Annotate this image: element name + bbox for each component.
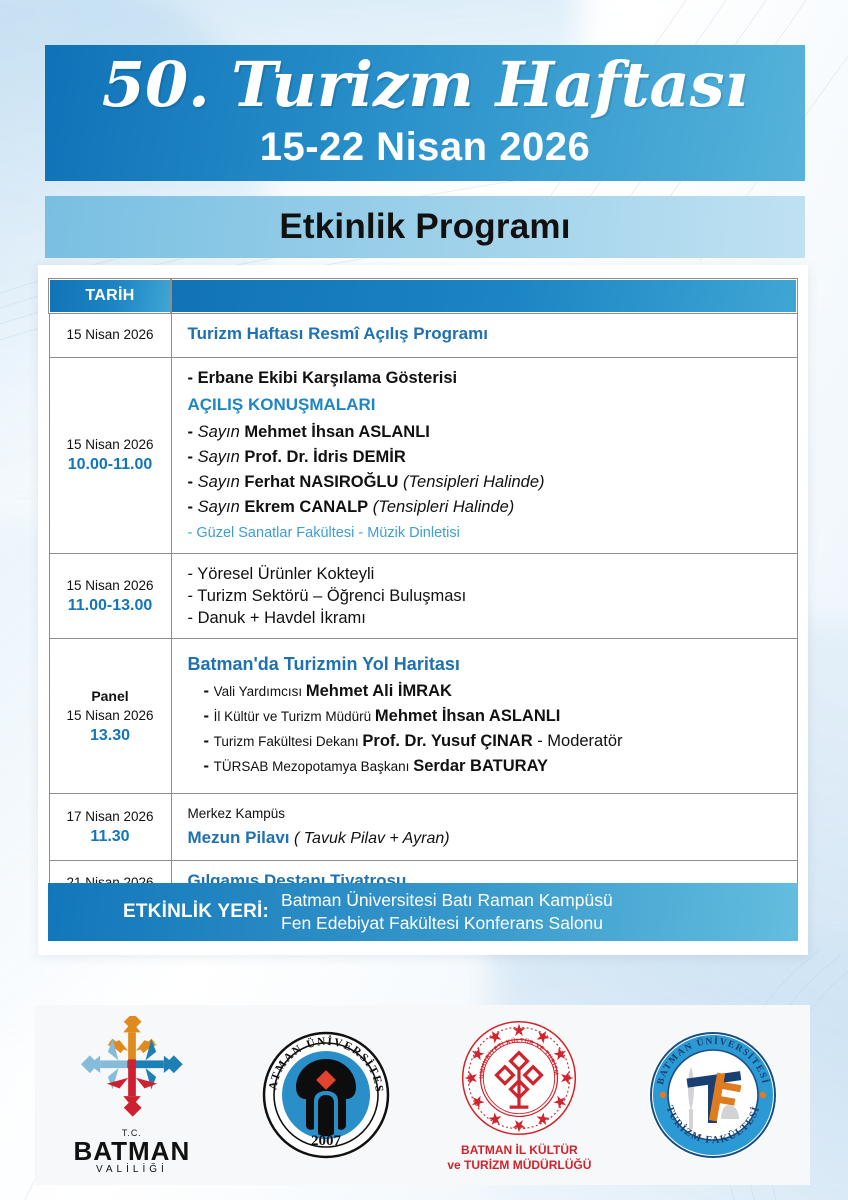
venue-bar: ETKİNLİK YERİ: Batman Üniversitesi Batı …: [48, 883, 798, 941]
table-header-content: [171, 279, 797, 313]
poster-title: 50. Turizm Haftası: [102, 47, 748, 123]
row-date-cell: 15 Nisan 2026 10.00-11.00: [49, 357, 171, 553]
logo-strip: T.C. BATMAN VALİLİĞİ BATMAN ÜNİVERSİTESİ…: [35, 1005, 810, 1185]
turizm-fakultesi-seal-icon: BATMAN ÜNİVERSİTESİ TURİZM FAKÜLTESİ: [643, 1025, 783, 1165]
logo-batman-valiligi: T.C. BATMAN VALİLİĞİ: [37, 1016, 227, 1175]
caption-batman: BATMAN: [74, 1138, 191, 1164]
venue-address-line: Fen Edebiyat Fakültesi Konferans Salonu: [281, 912, 613, 935]
row-content-cell: Batman'da Turizmin Yol Haritası - Vali Y…: [171, 638, 797, 793]
batman-universitesi-seal-icon: BATMAN ÜNİVERSİTESİ 2007: [256, 1025, 396, 1165]
panelist-name: Prof. Dr. Yusuf ÇINAR: [362, 732, 532, 750]
table-header-date: TARİH: [49, 279, 171, 313]
speaker-item: - Sayın Ferhat NASIROĞLU (Tensipleri Hal…: [188, 470, 789, 495]
panelist-name: Mehmet İhsan ASLANLI: [375, 707, 561, 725]
row-subheading: AÇILIŞ KONUŞMALARI: [188, 394, 789, 416]
panelist-item: - TÜRSAB Mezopotamya Başkanı Serdar BATU…: [188, 754, 789, 779]
bullet-dash: -: [204, 757, 214, 775]
row-item: Mezun Pilavı ( Tavuk Pilav + Ayran): [188, 825, 789, 851]
panelist-role: TÜRSAB Mezopotamya Başkanı: [214, 759, 414, 774]
speaker-item: - Sayın Prof. Dr. İdris DEMİR: [188, 445, 789, 470]
row-date-cell: 15 Nisan 2026 11.00-13.00: [49, 553, 171, 638]
venue-address: Batman Üniversitesi Batı Raman Kampüsü F…: [281, 889, 613, 935]
event-title: Mezun Pilavı: [188, 828, 290, 847]
program-table: TARİH 15 Nisan 2026 Turizm Haftası Resmî…: [48, 278, 798, 926]
speaker-name: Mehmet İhsan ASLANLI: [240, 423, 430, 441]
row-time: 11.00-13.00: [54, 596, 167, 616]
batman-valiligi-emblem-icon: [74, 1016, 190, 1128]
speaker-note: (Tensipleri Halinde): [398, 473, 544, 491]
panelist-suffix: - Moderatör: [533, 732, 623, 750]
bullet-dash: -: [188, 473, 198, 491]
honorific: Sayın: [198, 448, 240, 466]
honorific: Sayın: [198, 498, 240, 516]
speaker-item: - Sayın Ekrem CANALP (Tensipleri Halinde…: [188, 495, 789, 520]
bullet-dash: -: [204, 682, 214, 700]
caption-line-1: BATMAN İL KÜLTÜR: [447, 1143, 591, 1158]
table-row: 15 Nisan 2026 10.00-11.00 - Erbane Ekibi…: [49, 357, 797, 553]
row-time: 11.30: [54, 827, 167, 847]
panelist-role: Vali Yardımcısı: [214, 684, 306, 699]
row-item: - Danuk + Havdel İkramı: [188, 607, 789, 629]
honorific: Sayın: [198, 423, 240, 441]
speaker-note: (Tensipleri Halinde): [368, 498, 514, 516]
row-date: 15 Nisan 2026: [54, 435, 167, 455]
table-header-row: TARİH: [49, 279, 797, 313]
event-detail: ( Tavuk Pilav + Ayran): [290, 830, 450, 847]
seal-year: 2007: [311, 1133, 342, 1149]
row-date-cell: 15 Nisan 2026: [49, 313, 171, 357]
table-row: Panel 15 Nisan 2026 13.30 Batman'da Turi…: [49, 638, 797, 793]
table-header-date-label: TARİH: [50, 287, 170, 305]
bullet-dash: -: [188, 498, 198, 516]
bullet-dash: -: [188, 423, 198, 441]
row-item: - Erbane Ekibi Karşılama Gösterisi: [188, 367, 789, 389]
speaker-name: Prof. Dr. İdris DEMİR: [240, 448, 406, 466]
kultur-turizm-bakanligi-seal-icon: TÜRKİYE CUMHURİYETİ KÜLTÜR VE TURİZM BAK…: [458, 1017, 580, 1139]
speaker-item: - Sayın Mehmet İhsan ASLANLI: [188, 420, 789, 445]
row-date: 17 Nisan 2026: [54, 807, 167, 827]
panelist-item: - İl Kültür ve Turizm Müdürü Mehmet İhsa…: [188, 704, 789, 729]
row-label: Panel: [54, 686, 167, 706]
logo-turizm-fakultesi: BATMAN ÜNİVERSİTESİ TURİZM FAKÜLTESİ: [618, 1025, 808, 1165]
row-footnote: - Güzel Sanatlar Fakültesi - Müzik Dinle…: [188, 522, 789, 544]
row-content-cell: Turizm Haftası Resmî Açılış Programı: [171, 313, 797, 357]
row-date-cell: 17 Nisan 2026 11.30: [49, 793, 171, 860]
row-content-cell: Merkez Kampüs Mezun Pilavı ( Tavuk Pilav…: [171, 793, 797, 860]
row-date: 15 Nisan 2026: [54, 325, 167, 345]
row-heading: Turizm Haftası Resmî Açılış Programı: [188, 323, 789, 345]
caption-line-2: ve TURİZM MÜDÜRLÜĞÜ: [447, 1158, 591, 1173]
row-item: Merkez Kampüs: [188, 803, 789, 825]
table-row: 15 Nisan 2026 11.00-13.00 - Yöresel Ürün…: [49, 553, 797, 638]
panelist-role: Turizm Fakültesi Dekanı: [214, 734, 363, 749]
honorific: Sayın: [198, 473, 240, 491]
row-content-cell: - Yöresel Ürünler Kokteyli - Turizm Sekt…: [171, 553, 797, 638]
table-row: 15 Nisan 2026 Turizm Haftası Resmî Açılı…: [49, 313, 797, 357]
speaker-name: Ekrem CANALP: [240, 498, 368, 516]
batman-valiligi-caption: T.C. BATMAN VALİLİĞİ: [74, 1128, 191, 1175]
panelist-item: - Turizm Fakültesi Dekanı Prof. Dr. Yusu…: [188, 729, 789, 754]
title-banner: 50. Turizm Haftası 15-22 Nisan 2026: [45, 45, 805, 181]
program-heading-bar: Etkinlik Programı: [45, 196, 805, 258]
bullet-dash: -: [204, 707, 214, 725]
row-item: - Yöresel Ürünler Kokteyli: [188, 563, 789, 585]
row-time: 13.30: [54, 726, 167, 746]
speaker-name: Ferhat NASIROĞLU: [240, 473, 399, 491]
bullet-dash: -: [188, 448, 198, 466]
panelist-role: İl Kültür ve Turizm Müdürü: [214, 709, 375, 724]
row-heading: Batman'da Turizmin Yol Haritası: [188, 653, 789, 675]
logo-batman-universitesi: BATMAN ÜNİVERSİTESİ 2007: [231, 1025, 421, 1165]
row-date: 15 Nisan 2026: [54, 576, 167, 596]
poster-date-range: 15-22 Nisan 2026: [260, 123, 590, 171]
row-date: 15 Nisan 2026: [54, 706, 167, 726]
row-date-cell: Panel 15 Nisan 2026 13.30: [49, 638, 171, 793]
row-content-cell: - Erbane Ekibi Karşılama Gösterisi AÇILI…: [171, 357, 797, 553]
panelist-name: Serdar BATURAY: [413, 757, 548, 775]
row-time: 10.00-11.00: [54, 455, 167, 475]
kultur-turizm-caption: BATMAN İL KÜLTÜR ve TURİZM MÜDÜRLÜĞÜ: [447, 1143, 591, 1173]
table-row: 17 Nisan 2026 11.30 Merkez Kampüs Mezun …: [49, 793, 797, 860]
bullet-dash: -: [204, 732, 214, 750]
program-heading-text: Etkinlik Programı: [279, 207, 570, 247]
panelist-name: Mehmet Ali İMRAK: [306, 682, 452, 700]
venue-label: ETKİNLİK YERİ:: [123, 901, 269, 923]
logo-kultur-turizm-bakanligi: TÜRKİYE CUMHURİYETİ KÜLTÜR VE TURİZM BAK…: [424, 1017, 614, 1173]
venue-address-line: Batman Üniversitesi Batı Raman Kampüsü: [281, 889, 613, 912]
panelist-item: - Vali Yardımcısı Mehmet Ali İMRAK: [188, 679, 789, 704]
row-item: - Turizm Sektörü – Öğrenci Buluşması: [188, 585, 789, 607]
